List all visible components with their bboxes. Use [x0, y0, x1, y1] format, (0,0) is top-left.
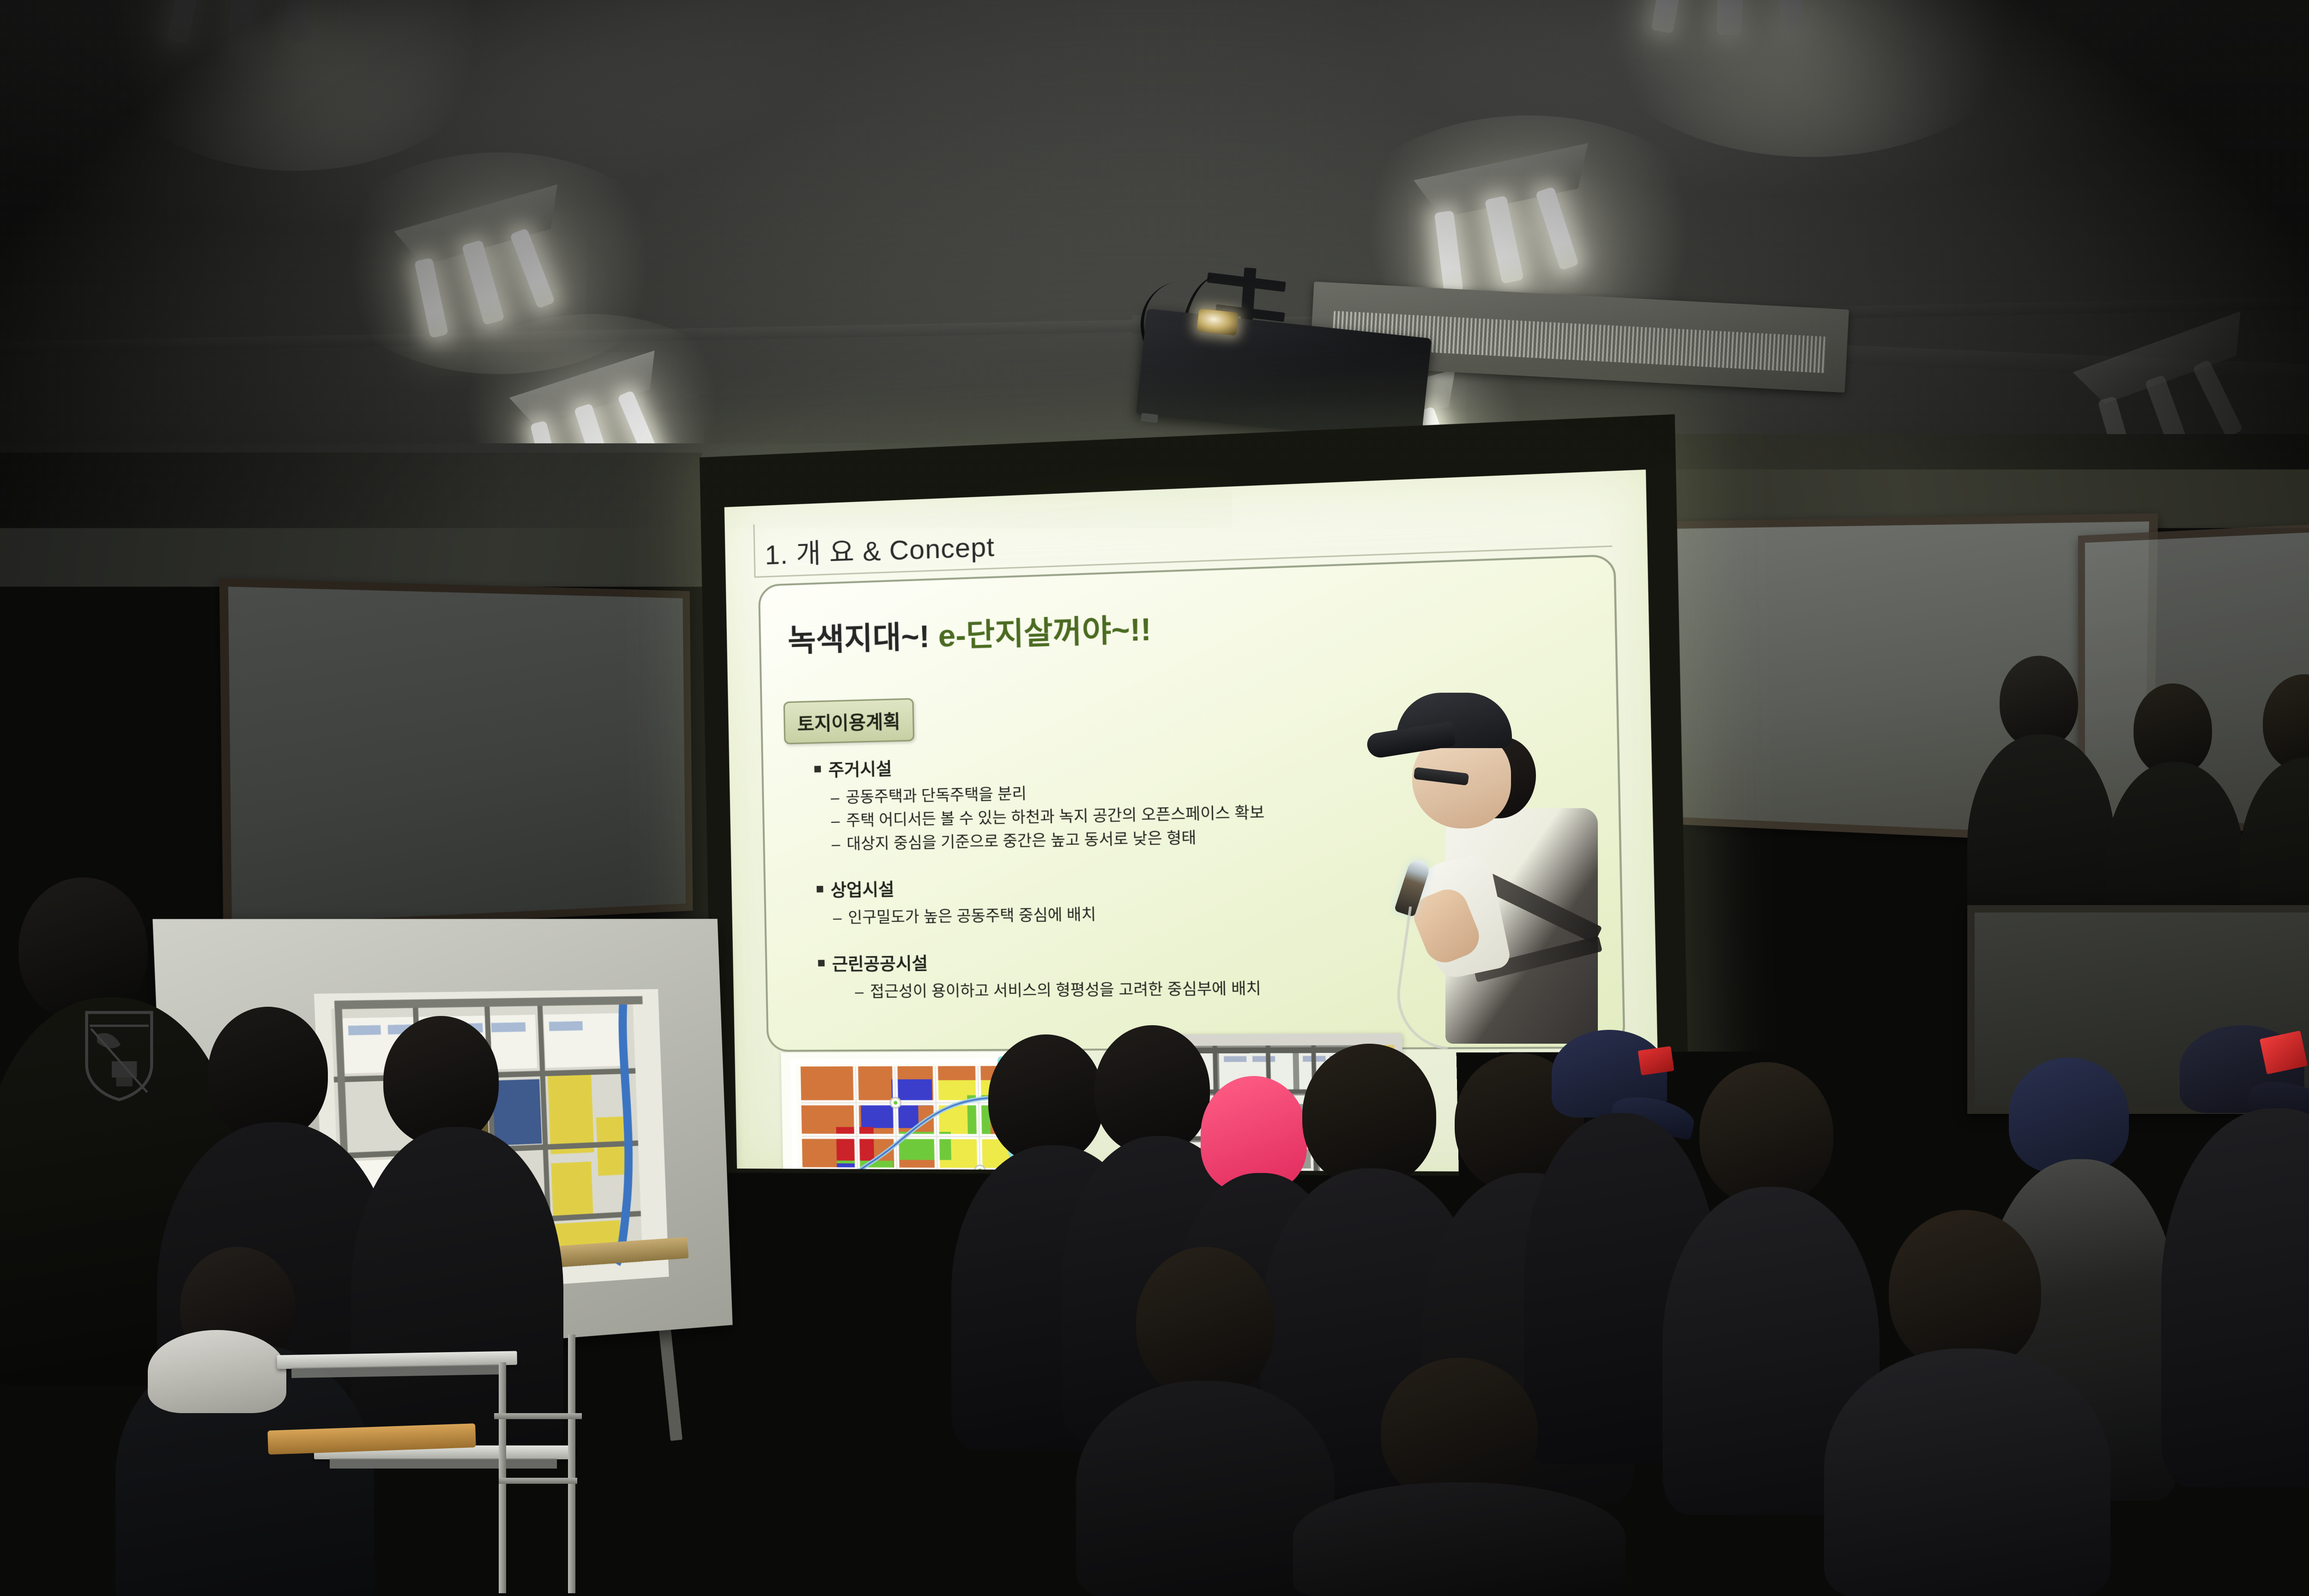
bullet-subitem-text: 대상지 중심을 기준으로 중간은 높고 동서로 낮은 형태: [846, 829, 1197, 852]
lecture-room-photo: 1. 개 요 & Concept 녹색지대~! e-단지살꺼야~!! 토지이용계…: [0, 0, 2309, 1596]
head: [383, 1016, 499, 1145]
light-tube: [1434, 211, 1463, 294]
light-tube: [1485, 195, 1524, 284]
head: [1699, 1062, 1833, 1205]
foreground-shadow: [0, 1478, 2309, 1596]
headline-accent: e-단지살꺼야~!!: [938, 611, 1152, 653]
slide-tag-label: 토지이용계획: [783, 698, 914, 744]
slide-title: 1. 개 요 & Concept: [764, 525, 995, 573]
bullet-heading-text: 주거시설: [828, 755, 892, 781]
ceiling-light-top-right: [1644, 0, 1847, 28]
light-tube: [2192, 359, 2243, 438]
desk-front: [330, 1458, 557, 1469]
ceiling-light-top-left: [162, 0, 356, 37]
light-tube: [509, 228, 555, 309]
bullet-heading-text: 상업시설: [830, 876, 895, 902]
title-tick: [753, 525, 756, 576]
audience-red-accent-cap: [2161, 1025, 2309, 1487]
light-tube: [414, 258, 448, 339]
head: [1302, 1044, 1436, 1187]
light-tube: [1717, 0, 1744, 36]
dash-icon: –: [831, 812, 840, 829]
bullet-square-icon: [814, 766, 821, 772]
bullet-square-icon: [818, 960, 824, 966]
dash-icon: –: [831, 789, 840, 806]
bullet-subitem-text: 접근성이 용이하고 서비스의 형평성을 고려한 중심부에 배치: [870, 979, 1261, 1000]
light-tube: [1535, 187, 1579, 271]
projector-foot: [1141, 413, 1158, 423]
light-tube: [461, 240, 505, 326]
bullet-subitem-text: 공동주택과 단독주택을 분리: [846, 785, 1027, 806]
head: [1889, 1210, 2041, 1372]
light-tube: [1772, 0, 1806, 32]
light-tube: [282, 0, 312, 42]
bullet-subitem-text: 인구밀도가 높은 공동주택 중심에 배치: [848, 906, 1096, 926]
headline-prefix: 녹색지대~!: [787, 618, 938, 658]
presenter: [1376, 693, 1635, 1044]
projector-lens: [1197, 308, 1239, 336]
head: [2263, 674, 2309, 771]
jacket-crest-emblem: [82, 1010, 156, 1102]
dash-icon: –: [833, 909, 842, 927]
shoulders: [2161, 1108, 2309, 1487]
desk: [277, 1351, 518, 1383]
audience-dark-coat-left-2: [351, 1016, 563, 1469]
slide-headline: 녹색지대~! e-단지살꺼야~!!: [787, 604, 1152, 661]
bullet-subitem-text: 주택 어디서든 볼 수 있는 하천과 녹지 공간의 오픈스페이스 확보: [846, 804, 1264, 829]
dash-icon: –: [855, 983, 864, 1000]
desk-rail: [494, 1413, 582, 1419]
head: [208, 1007, 328, 1141]
bullet-heading-text: 근린공공시설: [832, 949, 928, 976]
navy-beanie: [2009, 1058, 2129, 1173]
hood: [148, 1330, 286, 1413]
head: [1136, 1247, 1275, 1399]
dash-icon: –: [831, 835, 840, 853]
bullet-square-icon: [816, 886, 823, 893]
whiteboard-left: [219, 578, 693, 934]
